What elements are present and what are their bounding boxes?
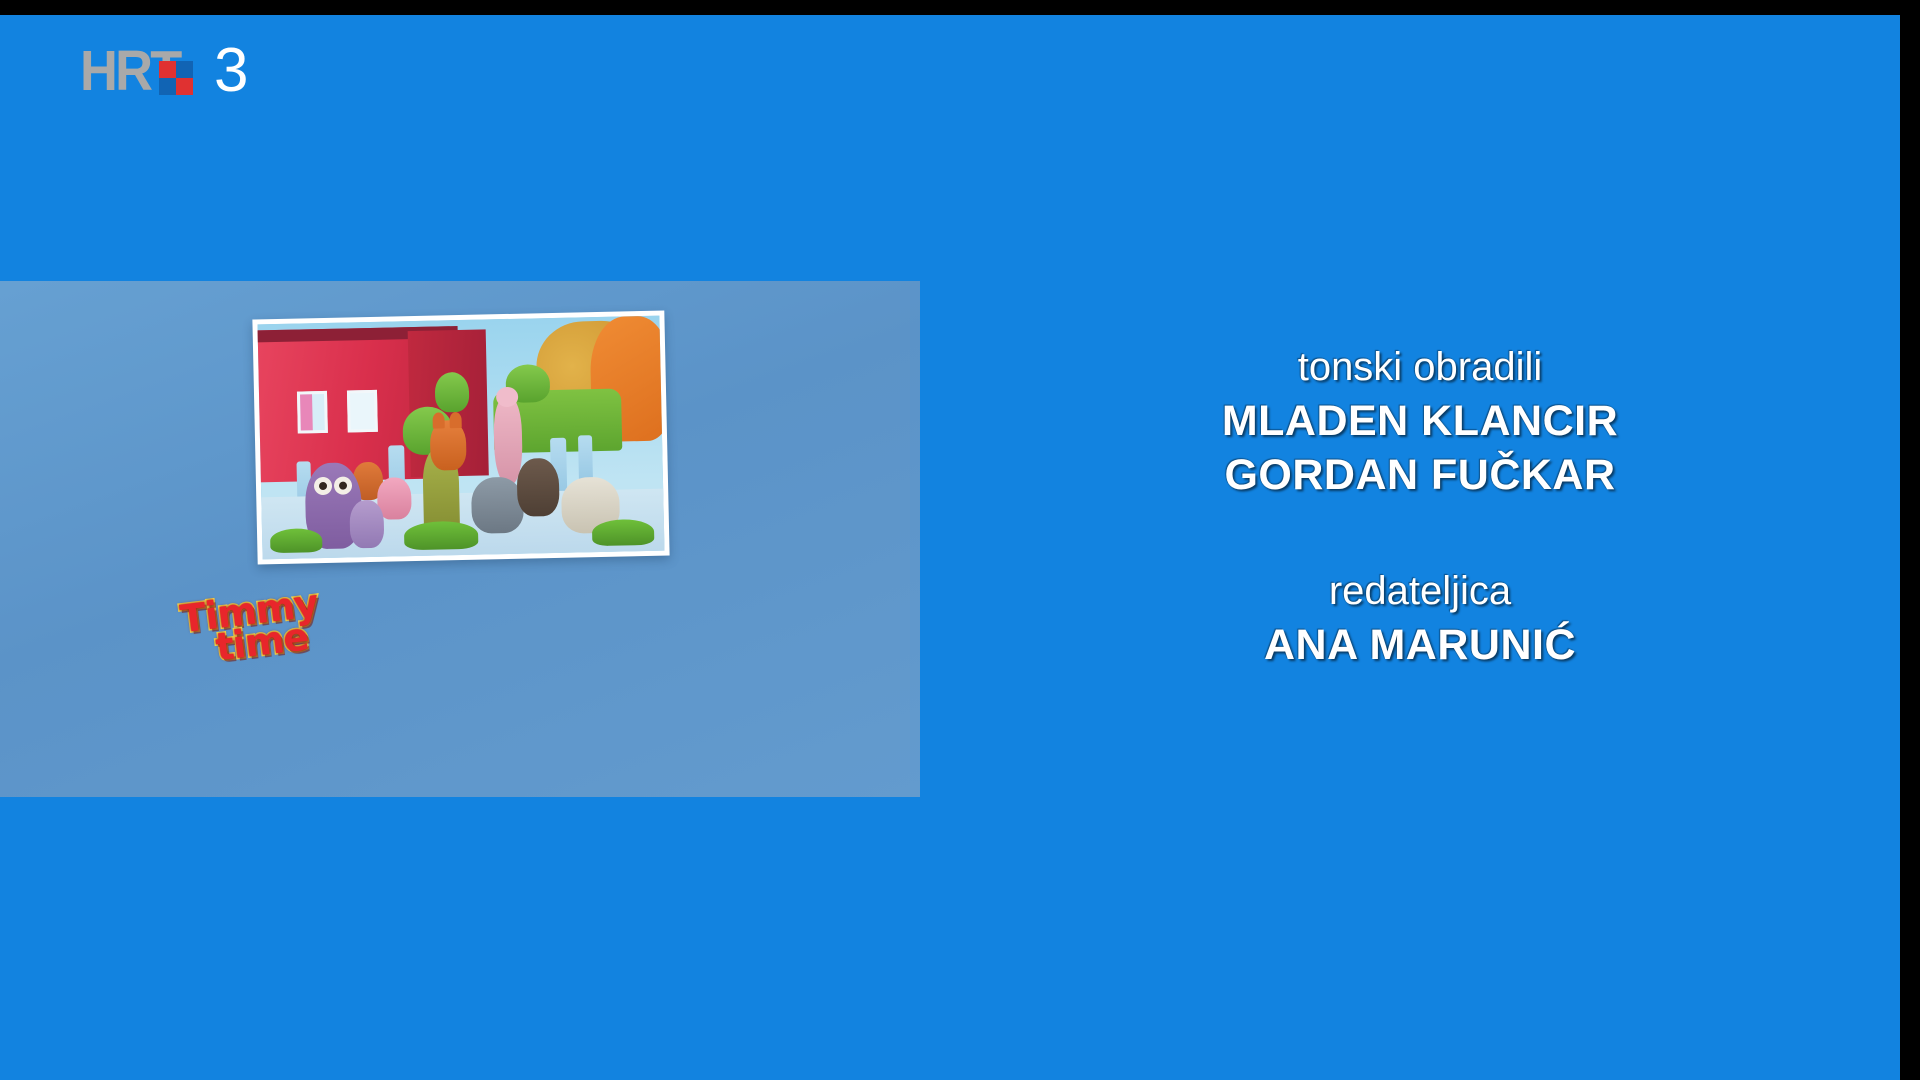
- broadcast-credits: tonski obradili MLADEN KLANCIR GORDAN FU…: [1140, 340, 1700, 672]
- show-logo-line-2: time: [200, 617, 323, 667]
- credit-person-name: MLADEN KLANCIR: [1140, 394, 1700, 448]
- credit-person-name: ANA MARUNIĆ: [1140, 618, 1700, 672]
- show-logo: Timmy time: [178, 585, 323, 669]
- credit-block-sound: tonski obradili MLADEN KLANCIR GORDAN FU…: [1140, 340, 1700, 502]
- fox-ear-right-icon: [449, 412, 461, 428]
- credit-role-label: tonski obradili: [1140, 340, 1700, 394]
- scene-barn-curtain: [300, 394, 313, 430]
- channel-logo: HRT 3: [80, 42, 248, 100]
- heron-head-icon: [496, 387, 518, 407]
- scene-character-fox: [430, 420, 467, 471]
- programme-photo-frame: [252, 311, 669, 565]
- programme-photo: [257, 316, 664, 560]
- credit-role-label: redateljica: [1140, 564, 1700, 618]
- owl-eye-left-icon: [314, 477, 332, 495]
- scene-bush-2: [435, 372, 470, 413]
- logo-square-red-bottom: [176, 78, 193, 95]
- scene-grass-1: [270, 528, 323, 553]
- video-panel: Timmy time Sets by Sion Lane Workshops J…: [0, 281, 920, 797]
- credit-person-name: GORDAN FUČKAR: [1140, 448, 1700, 502]
- letterbox-bar-top: [0, 0, 1920, 15]
- scene-character-cow: [516, 458, 559, 517]
- letterbox-bar-right: [1900, 0, 1920, 1080]
- fox-ear-left-icon: [432, 412, 444, 428]
- scene-barn-window-right: [347, 390, 378, 433]
- logo-square-red-top: [159, 61, 176, 78]
- owl-eye-right-icon: [334, 476, 352, 494]
- show-logo-line-1: Timmy: [178, 585, 319, 638]
- scene-grass-3: [592, 519, 655, 546]
- scene-grass-2: [404, 521, 479, 551]
- channel-number: 3: [214, 42, 248, 100]
- hrt-checker-icon: HRT: [80, 42, 192, 100]
- scene-character-owlet: [349, 500, 384, 549]
- tv-screen: HRT 3: [0, 0, 1920, 1080]
- logo-square-blue-bottom: [159, 78, 176, 95]
- logo-square-blue-top: [176, 61, 193, 78]
- credit-block-director: redateljica ANA MARUNIĆ: [1140, 564, 1700, 672]
